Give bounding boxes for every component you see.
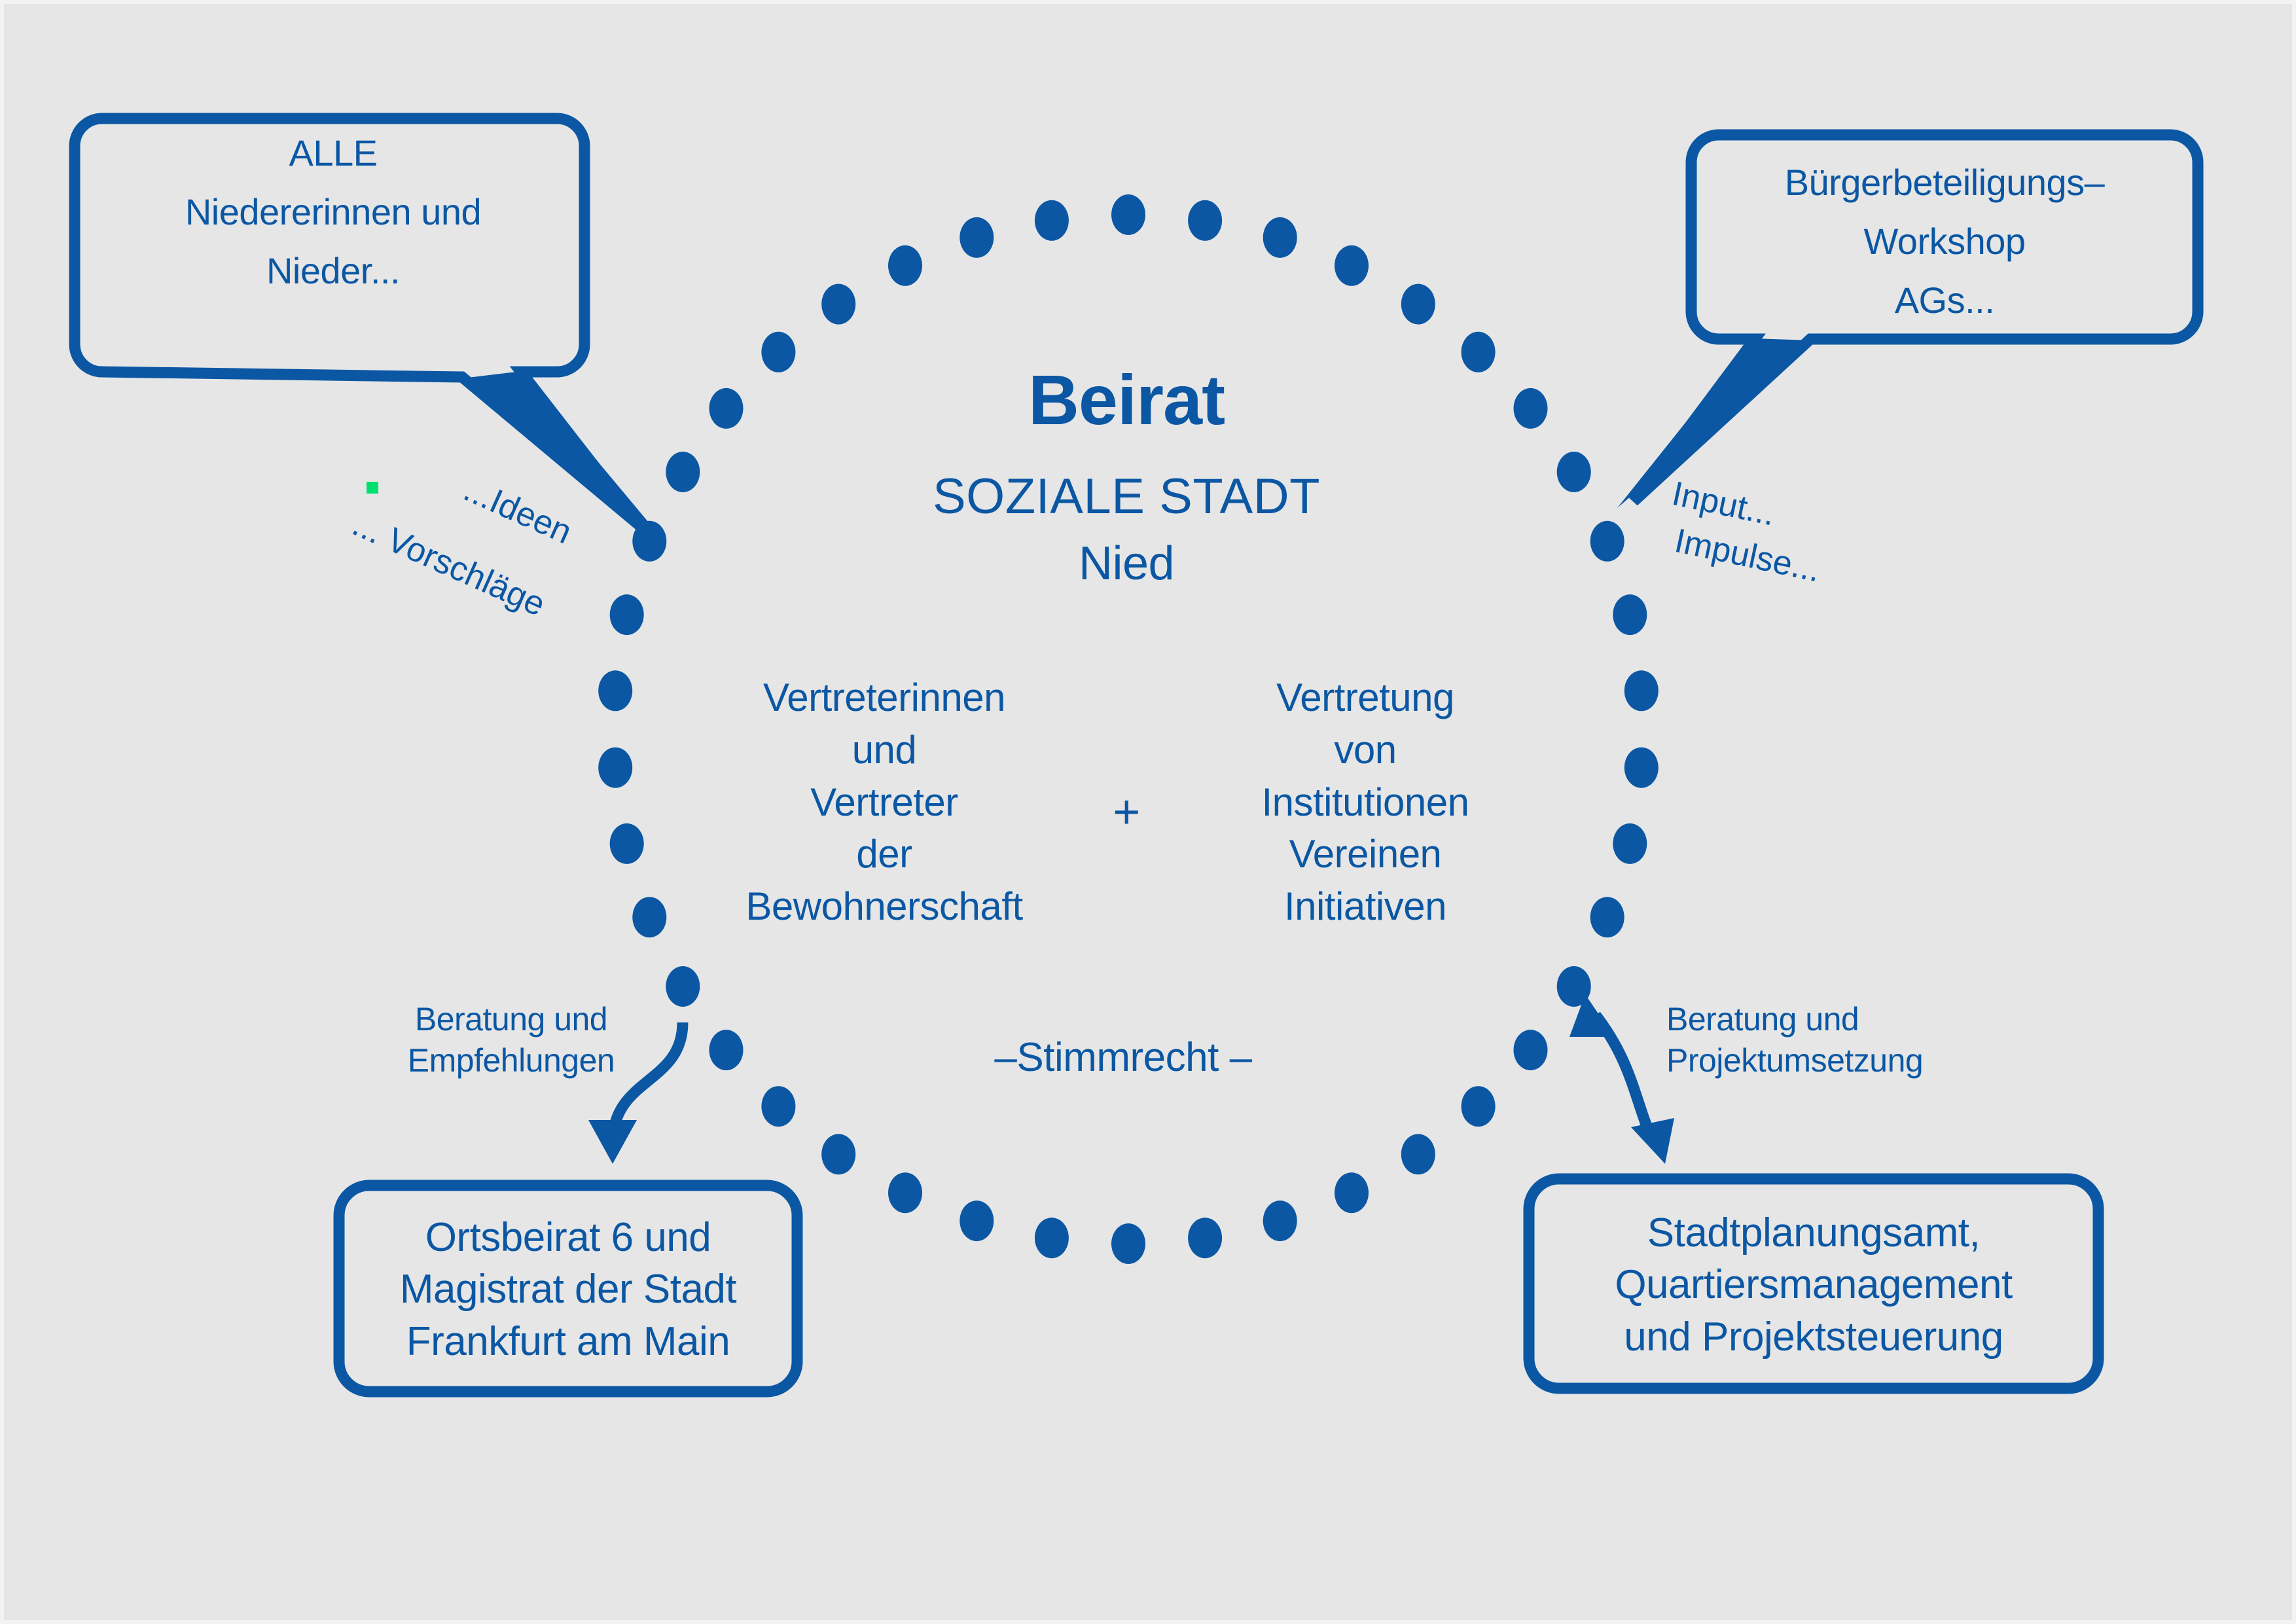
bottom-right-box-label: Stadtplanungsamt, Quartiersmanagement un… <box>1529 1207 2098 1363</box>
circle-dot <box>1613 594 1647 635</box>
circle-dot <box>1624 748 1659 788</box>
left-bubble-line-2: Niedererinnen und <box>81 190 585 234</box>
circle-dot <box>821 284 855 325</box>
circle-dot <box>1188 1218 1222 1258</box>
circle-dot <box>1590 521 1624 562</box>
circle-dot <box>1335 1172 1369 1213</box>
voting-rights-note: –Stimmrecht – <box>907 1035 1339 1080</box>
circle-dot <box>610 594 644 635</box>
plus-operator: + <box>1071 786 1182 839</box>
page-title: Beirat <box>799 361 1454 440</box>
circle-dot <box>1111 1223 1145 1264</box>
circle-dot <box>1401 1134 1435 1174</box>
circle-dot <box>1401 284 1435 325</box>
circle-dot <box>1514 1030 1548 1070</box>
circle-dot <box>1035 1218 1069 1258</box>
circle-dot <box>761 332 795 372</box>
circle-dot <box>1335 245 1369 286</box>
circle-dot <box>1590 897 1624 937</box>
green-square-icon <box>367 482 378 494</box>
members-left-column: Vertreterinnen und Vertreter der Bewohne… <box>711 672 1058 933</box>
circle-dot <box>960 217 994 258</box>
right-bubble-line-1: Bürgerbeteiligungs– <box>1698 161 2191 204</box>
circle-dot <box>1462 332 1496 372</box>
circle-dot <box>632 897 666 937</box>
page-subtitle-2: Nied <box>799 537 1454 590</box>
circle-dot <box>598 748 632 788</box>
left-bubble-line-3: Nieder... <box>81 249 585 293</box>
circle-dot <box>1624 670 1659 711</box>
diagram-canvas: ALLE Niedererinnen und Nieder... Bürgerb… <box>0 0 2296 1624</box>
circle-dot <box>888 245 922 286</box>
arrow-double-right-icon <box>1570 994 1674 1164</box>
circle-dot <box>1188 200 1222 241</box>
bottom-left-box-label: Ortsbeirat 6 und Magistrat der Stadt Fra… <box>339 1212 797 1367</box>
circle-dot <box>598 670 632 711</box>
circle-dot <box>960 1200 994 1241</box>
circle-dot <box>1462 1086 1496 1127</box>
circle-dot <box>1263 1200 1297 1241</box>
circle-dot <box>1613 823 1647 864</box>
circle-dot <box>610 823 644 864</box>
right-bubble-line-3: AGs... <box>1698 279 2191 322</box>
circle-dot <box>1514 388 1548 429</box>
circle-dot <box>666 452 700 492</box>
circle-dot <box>1111 194 1145 235</box>
circle-dot <box>709 388 744 429</box>
page-subtitle: SOZIALE STADT <box>799 469 1454 524</box>
right-bubble-line-2: Workshop <box>1698 220 2191 263</box>
circle-dot <box>1035 200 1069 241</box>
circle-dot <box>709 1030 744 1070</box>
circle-dot <box>761 1086 795 1127</box>
circle-dot <box>666 966 700 1007</box>
circle-dot <box>888 1172 922 1213</box>
left-arrow-label: Beratung und Empfehlungen <box>374 999 649 1081</box>
right-arrow-label: Beratung und Projektumsetzung <box>1666 999 1981 1081</box>
circle-dot <box>1557 452 1591 492</box>
left-bubble-line-1: ALLE <box>81 132 585 175</box>
members-right-column: Vertretung von Institutionen Vereinen In… <box>1195 672 1535 933</box>
circle-dot <box>821 1134 855 1174</box>
circle-dot <box>1263 217 1297 258</box>
speech-bubble-left-icon <box>75 118 658 534</box>
